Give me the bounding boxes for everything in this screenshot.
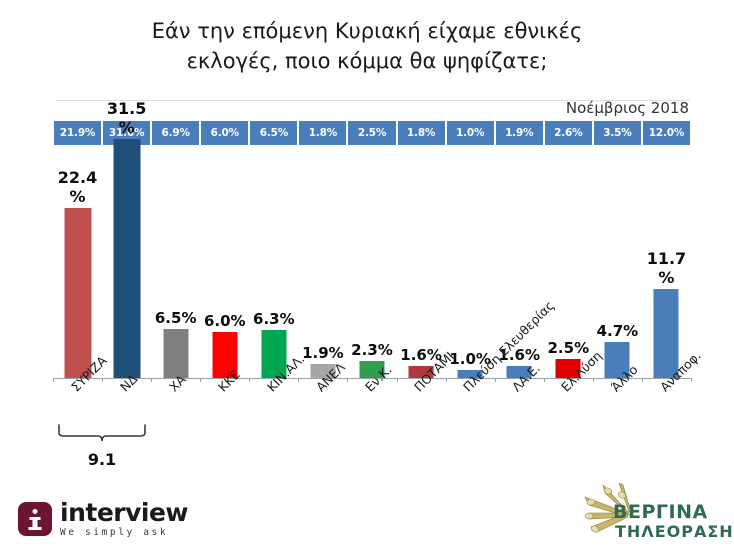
bar-slot: 6.5% xyxy=(151,120,200,378)
bar-value-label: 6.0% xyxy=(204,313,246,330)
gap-brace-value: 9.1 xyxy=(58,450,146,469)
vergina-tv-logo: ΒΕΡΓΙΝΑ ΤΗΛΕΟΡΑΣΗ xyxy=(575,483,727,545)
date-label: Νοέμβριος 2018 xyxy=(566,99,689,117)
axis-tick xyxy=(446,378,447,382)
bar-value-label: 2.3% xyxy=(351,342,393,359)
chart-title: Εάν την επόμενη Κυριακή είχαμε εθνικές ε… xyxy=(0,16,734,76)
bar-value-label: 11.7% xyxy=(647,249,686,287)
axis-tick xyxy=(495,378,496,382)
bar xyxy=(113,139,140,378)
interview-logo-tagline: We simply ask xyxy=(60,527,188,538)
axis-tick xyxy=(691,378,692,382)
bar-slot: 1.0% xyxy=(446,120,495,378)
axis-tick xyxy=(593,378,594,382)
axis-tick xyxy=(200,378,201,382)
axis-tick xyxy=(102,378,103,382)
axis-tick xyxy=(347,378,348,382)
bar-value-label: 6.3% xyxy=(253,311,295,328)
bar-value-label: 31.5% xyxy=(107,99,146,137)
axis-tick xyxy=(298,378,299,382)
bar-slot: 1.6% xyxy=(397,120,446,378)
gap-brace-icon xyxy=(58,424,146,446)
bar-slot: 6.0% xyxy=(200,120,249,378)
vergina-logo-name: ΒΕΡΓΙΝΑ xyxy=(613,501,708,523)
interview-logo: interview We simply ask xyxy=(18,500,188,538)
bar-slot: 11.7% xyxy=(642,120,691,378)
chart-title-line-2: εκλογές, ποιο κόμμα θα ψηφίζατε; xyxy=(0,46,734,76)
bar-value-label: 2.5% xyxy=(547,340,589,357)
bar-slot: 2.5% xyxy=(544,120,593,378)
interview-logo-name: interview xyxy=(60,500,188,525)
bar-slot: 6.3% xyxy=(249,120,298,378)
bar-slot: 2.3% xyxy=(347,120,396,378)
chart-title-line-1: Εάν την επόμενη Κυριακή είχαμε εθνικές xyxy=(0,16,734,46)
axis-tick xyxy=(544,378,545,382)
bar-slot: 1.9% xyxy=(298,120,347,378)
vergina-logo-subtitle: ΤΗΛΕΟΡΑΣΗ xyxy=(615,522,734,541)
bar-slot: 31.5% xyxy=(102,120,151,378)
axis-tick xyxy=(397,378,398,382)
bar-value-label: 22.4% xyxy=(58,168,97,206)
axis-tick xyxy=(249,378,250,382)
bar-value-label: 6.5% xyxy=(155,310,197,327)
bar-slot: 22.4% xyxy=(53,120,102,378)
axis-tick xyxy=(642,378,643,382)
bar-slot: 4.7% xyxy=(593,120,642,378)
category-axis-labels: ΣΥΡΙΖΑΝΔΧΑΚΚΕΚΙΝ.ΑΛ.ΑΝΕΛΕν.Κ.ΠΟΤΑΜΙΠλεύσ… xyxy=(53,378,691,488)
info-i-icon xyxy=(18,502,52,536)
bar-value-label: 4.7% xyxy=(597,323,639,340)
bar xyxy=(163,329,188,378)
plot-area: 22.4%31.5%6.5%6.0%6.3%1.9%2.3%1.6%1.0%1.… xyxy=(53,120,691,378)
bar xyxy=(64,208,91,378)
axis-tick xyxy=(53,378,54,382)
axis-tick xyxy=(151,378,152,382)
